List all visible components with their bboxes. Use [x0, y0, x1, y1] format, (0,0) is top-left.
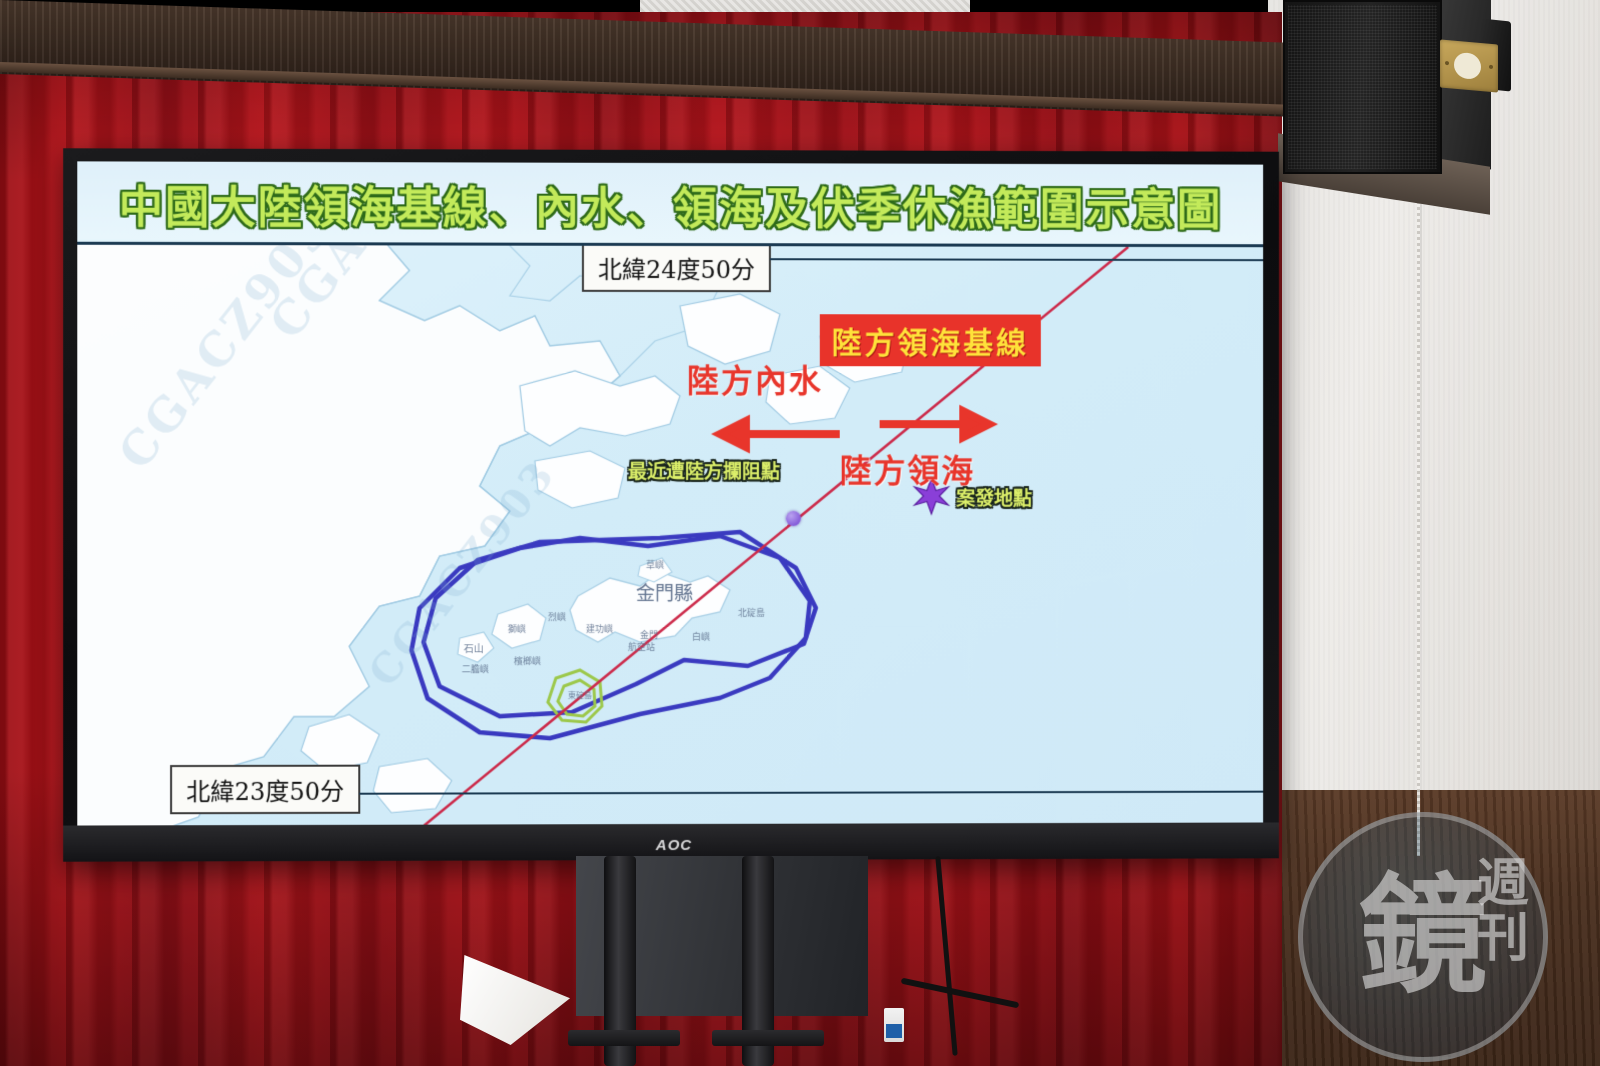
- presentation-slide: 中國大陸領海基線、內水、領海及伏季休漁範圍示意圖: [77, 161, 1263, 828]
- watermark-sub-glyphs: 週 刊: [1477, 857, 1529, 966]
- svg-text:二膽嶼: 二膽嶼: [462, 663, 489, 675]
- stand-foot-right: [712, 1030, 824, 1046]
- slide-title: 中國大陸領海基線、內水、領海及伏季休漁範圍示意圖: [77, 171, 1263, 238]
- annotation-inland-waters: 陸方內水: [687, 356, 823, 402]
- svg-text:北碇島: 北碇島: [738, 607, 765, 619]
- svg-text:白嶼: 白嶼: [692, 631, 710, 643]
- brass-outlet-plate[interactable]: [1440, 39, 1498, 92]
- annotation-intercept-point: 最近遭陸方攔阻點: [628, 462, 780, 484]
- stand-foot-left: [568, 1030, 680, 1046]
- svg-text:獅嶼: 獅嶼: [508, 623, 526, 635]
- svg-text:航空站: 航空站: [628, 641, 655, 653]
- speaker-grille: [1283, 0, 1442, 174]
- annotation-territorial-sea: 陸方領海: [840, 446, 975, 492]
- svg-text:草嶼: 草嶼: [646, 559, 664, 571]
- publisher-watermark: 鏡 週 刊: [1298, 812, 1548, 1062]
- intercept-point-dot: [786, 511, 801, 526]
- svg-text:金門縣: 金門縣: [636, 583, 693, 605]
- cable-label-tag: [884, 1008, 904, 1042]
- press-conference-photo: 中國大陸領海基線、內水、領海及伏季休漁範圍示意圖: [0, 0, 1600, 1066]
- monitor-screen[interactable]: 中國大陸領海基線、內水、領海及伏季休漁範圍示意圖: [77, 161, 1263, 828]
- annotation-incident-point: 案發地點: [956, 489, 1032, 511]
- watermark-sub-top: 週: [1477, 855, 1529, 913]
- watermark-sub-bottom: 刊: [1477, 910, 1529, 968]
- svg-text:石山: 石山: [464, 643, 484, 655]
- lat-label-top: 北緯24度50分: [582, 245, 771, 292]
- svg-text:烈嶼: 烈嶼: [548, 611, 566, 623]
- aoc-brand-logo: AOC: [63, 835, 1279, 855]
- map-canvas: 金門縣 烈嶼 獅嶼 檳榔嶼 石山 二膽嶼 建功嶼 金門 航空站 白嶼 北碇島 草…: [77, 245, 1263, 829]
- watermark-main-glyph: 鏡: [1359, 873, 1487, 1001]
- aoc-monitor: 中國大陸領海基線、內水、領海及伏季休漁範圍示意圖: [63, 148, 1279, 861]
- svg-text:東碇島: 東碇島: [568, 690, 592, 700]
- svg-text:檳榔嶼: 檳榔嶼: [514, 655, 541, 667]
- lat-label-bottom: 北緯23度50分: [170, 765, 360, 815]
- svg-text:金門: 金門: [640, 629, 658, 641]
- wall-seam: [1420, 100, 1422, 860]
- intercept-line-1: 最近遭陸方攔阻點: [628, 462, 780, 484]
- annotation-baseline-banner: 陸方領海基線: [820, 314, 1041, 366]
- svg-text:建功嶼: 建功嶼: [586, 623, 613, 635]
